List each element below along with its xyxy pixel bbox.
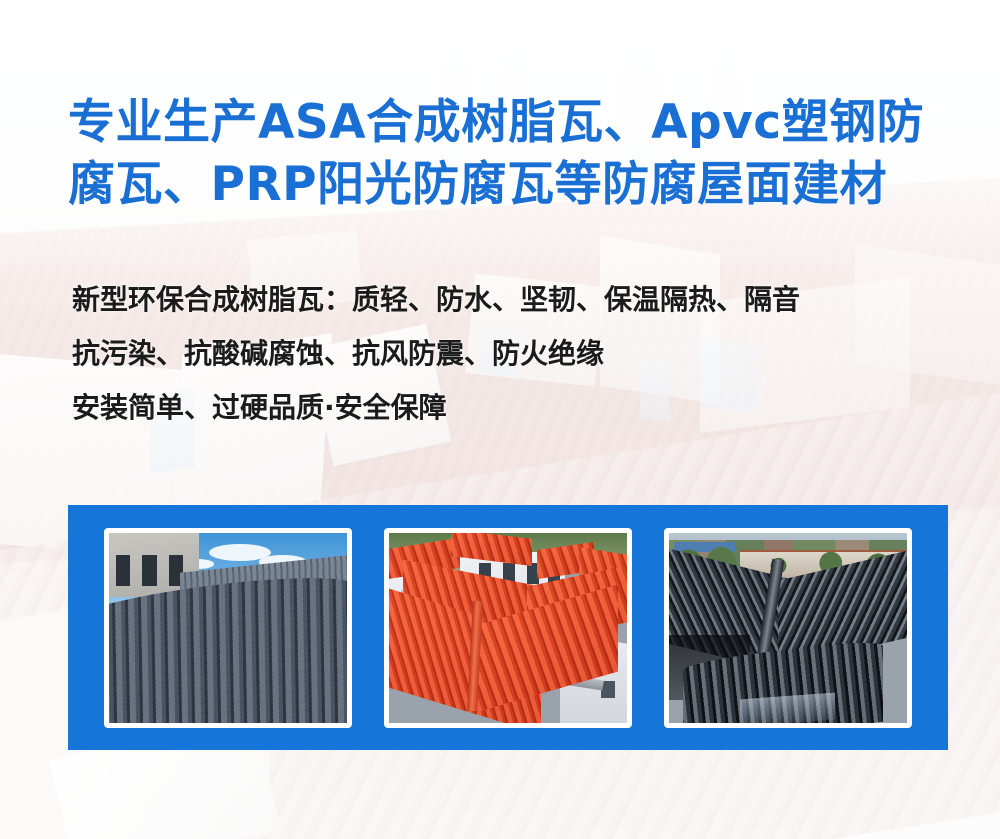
black-resin-tile-roof-photo [669,533,907,723]
feature-line-3: 安装简单、过硬品质·安全保障 [72,381,972,435]
feature-line-2: 抗污染、抗酸碱腐蚀、抗风防震、防火绝缘 [72,327,972,381]
photo-gallery-panel [68,505,948,750]
photo-frame-black-roof[interactable] [664,528,912,728]
product-banner: 专业生产ASA合成树脂瓦、Apvc塑钢防 腐瓦、PRP阳光防腐瓦等防腐屋面建材 … [0,0,1000,839]
feature-line-1: 新型环保合成树脂瓦：质轻、防水、坚韧、保温隔热、隔音 [72,273,972,327]
grey-resin-tile-roof-photo [109,533,347,723]
photo-frame-red-roof[interactable] [384,528,632,728]
red-resin-tile-roof-photo [389,533,627,723]
photo-frame-grey-roof[interactable] [104,528,352,728]
feature-list: 新型环保合成树脂瓦：质轻、防水、坚韧、保温隔热、隔音 抗污染、抗酸碱腐蚀、抗风防… [72,273,972,435]
page-title: 专业生产ASA合成树脂瓦、Apvc塑钢防 腐瓦、PRP阳光防腐瓦等防腐屋面建材 [68,92,948,216]
